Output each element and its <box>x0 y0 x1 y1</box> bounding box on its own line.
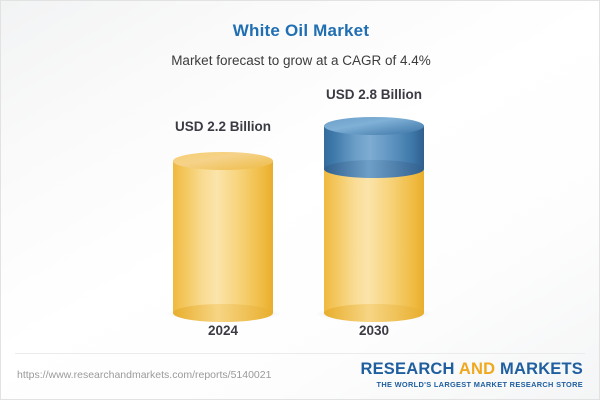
footer-divider <box>15 353 585 354</box>
bar-cap-blue-bottom-2030 <box>324 160 424 178</box>
logo-tagline: THE WORLD'S LARGEST MARKET RESEARCH STOR… <box>360 380 583 389</box>
logo-word-research: RESEARCH <box>360 360 454 378</box>
research-and-markets-logo[interactable]: RESEARCH AND MARKETS THE WORLD'S LARGEST… <box>360 361 583 389</box>
bar-cap-bottom-2024 <box>173 304 273 322</box>
logo-word-and: AND <box>459 360 495 378</box>
logo-wordmark: RESEARCH AND MARKETS <box>360 361 583 378</box>
bar-value-label-2030: USD 2.8 Billion <box>304 87 444 102</box>
bar-cap-top-2024 <box>173 152 273 170</box>
bar-body-gold-2024 <box>173 161 273 313</box>
logo-word-markets: MARKETS <box>500 360 583 378</box>
source-url[interactable]: https://www.researchandmarkets.com/repor… <box>17 369 271 381</box>
bar-value-label-2024: USD 2.2 Billion <box>153 119 293 134</box>
bar-segment-base-2024 <box>173 161 273 313</box>
bar-cap-blue-top-2030 <box>324 117 424 135</box>
plot-area: USD 2.2 Billion 2024 USD 2.8 Billion <box>1 81 600 341</box>
bar-body-gold-2030 <box>324 169 424 313</box>
chart-card: White Oil Market Market forecast to grow… <box>0 0 600 400</box>
chart-title: White Oil Market <box>1 21 600 41</box>
bar-segment-growth-2030 <box>324 126 424 169</box>
category-label-2030: 2030 <box>304 323 444 338</box>
category-label-2024: 2024 <box>153 323 293 338</box>
bar-cap-bottom-2030 <box>324 304 424 322</box>
chart-subtitle: Market forecast to grow at a CAGR of 4.4… <box>1 53 600 68</box>
bar-segment-base-2030 <box>324 169 424 313</box>
